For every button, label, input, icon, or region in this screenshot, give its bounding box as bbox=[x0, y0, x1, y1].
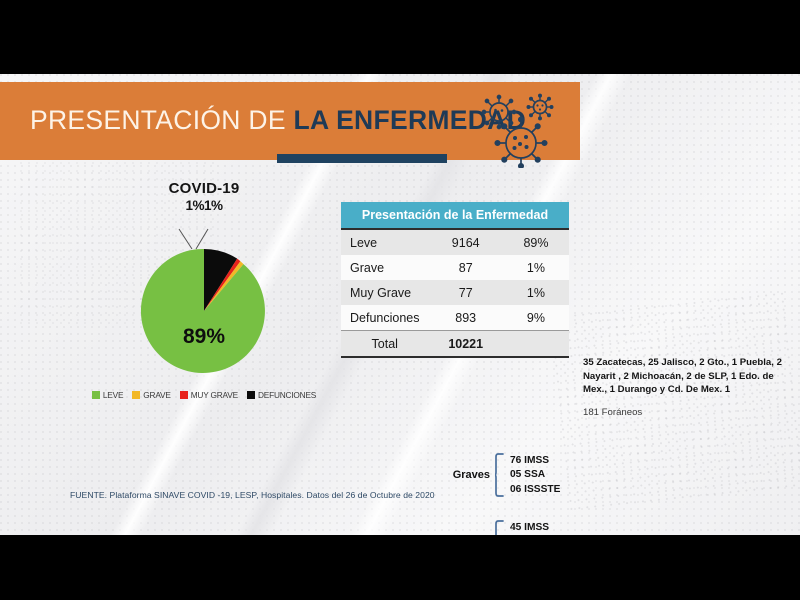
legend-item-muy-grave: MUY GRAVE bbox=[180, 390, 238, 400]
row-pct-grave: 1% bbox=[503, 255, 569, 280]
pie-chart-legend: LEVE GRAVE MUY GRAVE DEFUNCIONES bbox=[84, 390, 324, 400]
table-row: Defunciones 893 9% bbox=[341, 305, 569, 331]
bracket-item: 05 SSA bbox=[510, 468, 560, 481]
table-header-row: Presentación de la Enfermedad bbox=[341, 202, 569, 229]
bracket-item: 06 ISSSTE bbox=[510, 483, 560, 496]
page-title: PRESENTACIÓN DE LA ENFERMEDAD bbox=[30, 105, 526, 136]
note-foreign-total: 181 Foráneos bbox=[583, 407, 793, 418]
row-pct-leve: 89% bbox=[503, 229, 569, 255]
legend-swatch-defunciones bbox=[247, 391, 255, 399]
row-label-total: Total bbox=[341, 331, 429, 358]
legend-swatch-grave bbox=[132, 391, 140, 399]
legend-swatch-muy-grave bbox=[180, 391, 188, 399]
row-label-grave: Grave bbox=[341, 255, 429, 280]
table-row: Grave 87 1% bbox=[341, 255, 569, 280]
legend-label-leve: LEVE bbox=[103, 390, 123, 400]
pie-chart-title: COVID-19 bbox=[84, 180, 324, 197]
pie-small-slice-labels: 1%1% bbox=[84, 198, 324, 213]
bracket-group-graves: Graves 76 IMSS 05 SSA 06 ISSSTE bbox=[424, 453, 560, 497]
bracket-label-graves: Graves bbox=[424, 469, 490, 481]
row-count-muy-grave: 77 bbox=[429, 280, 503, 305]
table-title-cell: Presentación de la Enfermedad bbox=[341, 202, 569, 229]
source-footer: FUENTE. Plataforma SINAVE COVID -19, LES… bbox=[70, 490, 435, 500]
legend-label-muy-grave: MUY GRAVE bbox=[191, 390, 238, 400]
pie-chart-canvas: 89% bbox=[84, 213, 324, 388]
bracket-group-muy-graves: Muy graves 45 IMSS 26 SSA 06 ISSSTE bbox=[424, 520, 560, 535]
legend-item-defunciones: DEFUNCIONES bbox=[247, 390, 316, 400]
bracket-item: 45 IMSS bbox=[510, 521, 560, 534]
row-pct-muy-grave: 1% bbox=[503, 280, 569, 305]
row-pct-total bbox=[503, 331, 569, 358]
row-label-defunciones: Defunciones bbox=[341, 305, 429, 331]
table-row: Muy Grave 77 1% bbox=[341, 280, 569, 305]
slide-canvas: PRESENTACIÓN DE LA ENFERMEDAD bbox=[0, 74, 800, 535]
table-row: Leve 9164 89% bbox=[341, 229, 569, 255]
row-pct-defunciones: 9% bbox=[503, 305, 569, 331]
header-accent-bar bbox=[277, 154, 447, 163]
bracket-item: 76 IMSS bbox=[510, 454, 560, 467]
legend-label-defunciones: DEFUNCIONES bbox=[258, 390, 316, 400]
bracket-items-muy-graves: 45 IMSS 26 SSA 06 ISSSTE bbox=[508, 521, 560, 535]
page-title-light: PRESENTACIÓN DE bbox=[30, 105, 293, 135]
row-count-total: 10221 bbox=[429, 331, 503, 358]
coronavirus-icon bbox=[473, 90, 573, 168]
row-count-defunciones: 893 bbox=[429, 305, 503, 331]
brace-icon bbox=[494, 520, 504, 535]
row-count-leve: 9164 bbox=[429, 229, 503, 255]
header-band: PRESENTACIÓN DE LA ENFERMEDAD bbox=[0, 82, 580, 160]
foreign-cases-note: 35 Zacatecas, 25 Jalisco, 2 Gto., 1 Pueb… bbox=[583, 356, 793, 418]
disease-presentation-table: Presentación de la Enfermedad Leve 9164 … bbox=[341, 202, 569, 358]
screenshot-stage: PRESENTACIÓN DE LA ENFERMEDAD bbox=[0, 0, 800, 600]
pie-chart-block: COVID-19 1%1% 89% bbox=[84, 180, 324, 400]
row-label-muy-grave: Muy Grave bbox=[341, 280, 429, 305]
brace-icon bbox=[494, 453, 504, 497]
legend-item-grave: GRAVE bbox=[132, 390, 170, 400]
row-count-grave: 87 bbox=[429, 255, 503, 280]
legend-item-leve: LEVE bbox=[92, 390, 123, 400]
row-label-leve: Leve bbox=[341, 229, 429, 255]
table-total-row: Total 10221 bbox=[341, 331, 569, 358]
legend-swatch-leve bbox=[92, 391, 100, 399]
legend-label-grave: GRAVE bbox=[143, 390, 170, 400]
note-state-breakdown: 35 Zacatecas, 25 Jalisco, 2 Gto., 1 Pueb… bbox=[583, 356, 793, 397]
bracket-items-graves: 76 IMSS 05 SSA 06 ISSSTE bbox=[508, 454, 560, 496]
